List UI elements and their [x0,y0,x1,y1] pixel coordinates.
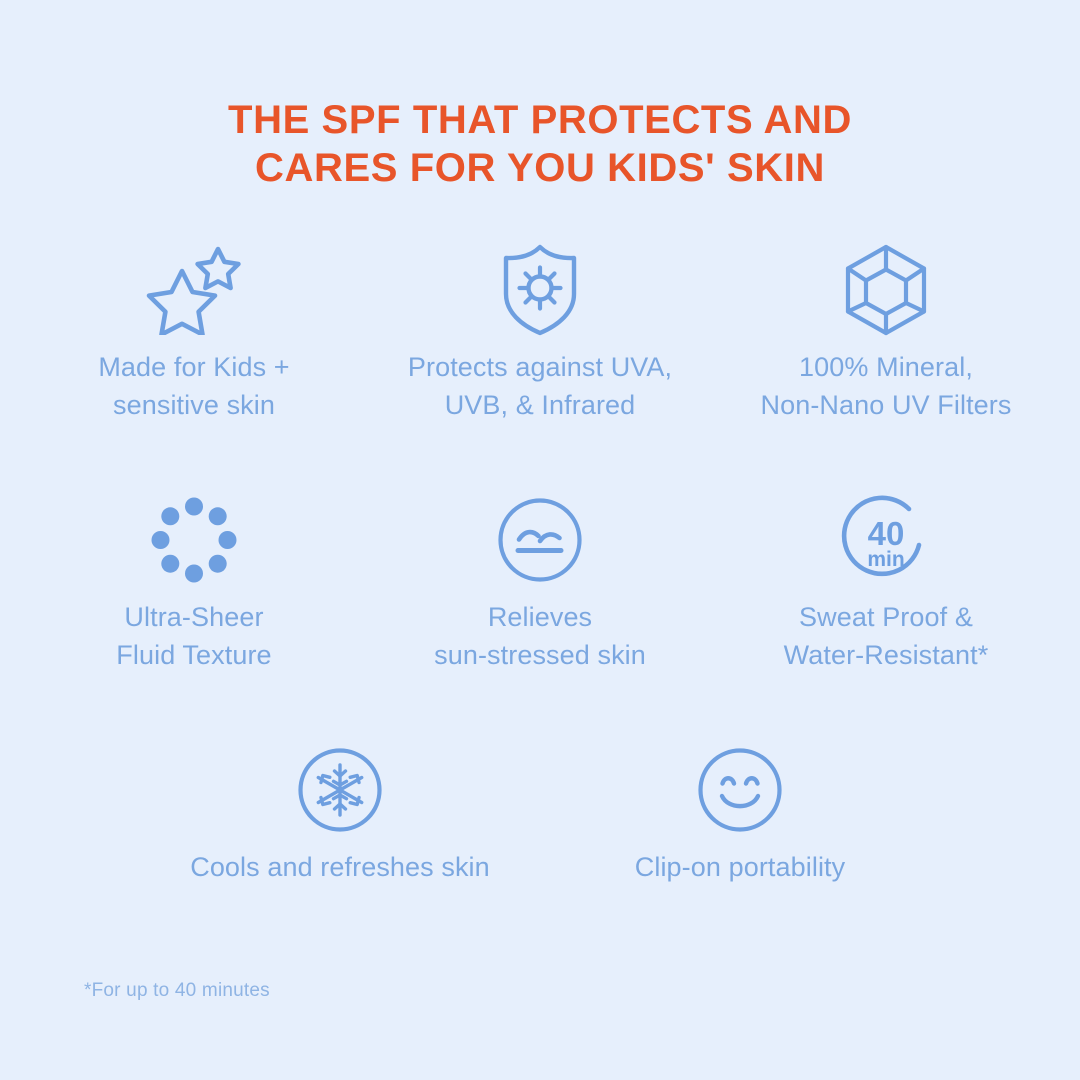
feature-item-mineral-filters: 100% Mineral, Non-Nano UV Filters [713,242,1059,492]
shield-sun-icon [501,242,579,338]
feature-caption: Clip-on portability [635,848,846,886]
caption-line-1: Cools and refreshes skin [190,848,490,886]
forty-minutes-timer-icon: 40 min [841,492,931,588]
feature-caption: Sweat Proof & Water-Resistant* [784,598,989,674]
feature-caption: Made for Kids + sensitive skin [98,348,289,424]
caption-line-2: Non-Nano UV Filters [761,386,1012,424]
smiley-face-icon [697,742,783,838]
caption-line-1: Protects against UVA, [408,348,672,386]
timer-value: 40 [868,515,905,552]
caption-line-1: Ultra-Sheer [116,598,271,636]
footnote: *For up to 40 minutes [84,978,270,1004]
feature-item-sweat-proof: 40 min Sweat Proof & Water-Resistant* [713,492,1059,742]
feature-item-cooling: Cools and refreshes skin [140,742,540,932]
timer-unit: min [867,548,904,571]
product-benefits-infographic: THE SPF THAT PROTECTS AND CARES FOR YOU … [0,0,1080,1080]
caption-line-1: Relieves [434,598,646,636]
feature-item-made-for-kids: Made for Kids + sensitive skin [21,242,367,492]
feature-row-3: Cools and refreshes skin [20,742,1060,932]
caption-line-1: Sweat Proof & [784,598,989,636]
feature-row-1: Made for Kids + sensitive skin [20,242,1060,492]
caption-line-2: sun-stressed skin [434,636,646,674]
feature-caption: Ultra-Sheer Fluid Texture [116,598,271,674]
snowflake-circle-icon [297,742,383,838]
soothing-waves-circle-icon [497,492,583,588]
mineral-gem-icon [840,242,932,338]
page-title-line-2: CARES FOR YOU KIDS' SKIN [0,144,1080,192]
feature-caption: 100% Mineral, Non-Nano UV Filters [761,348,1012,424]
page-title: THE SPF THAT PROTECTS AND CARES FOR YOU … [0,96,1080,192]
feature-caption: Cools and refreshes skin [190,848,490,886]
caption-line-1: Made for Kids + [98,348,289,386]
feature-caption: Protects against UVA, UVB, & Infrared [408,348,672,424]
caption-line-2: sensitive skin [98,386,289,424]
feature-row-2: Ultra-Sheer Fluid Texture [20,492,1060,742]
feature-item-ultra-sheer: Ultra-Sheer Fluid Texture [21,492,367,742]
dotted-circle-icon [151,492,237,588]
caption-line-2: Fluid Texture [116,636,271,674]
page-title-line-1: THE SPF THAT PROTECTS AND [0,96,1080,144]
caption-line-1: Clip-on portability [635,848,846,886]
caption-line-2: UVB, & Infrared [408,386,672,424]
two-stars-icon [144,242,244,338]
caption-line-1: 100% Mineral, [761,348,1012,386]
feature-grid: Made for Kids + sensitive skin [20,242,1060,932]
feature-item-uv-protection: Protects against UVA, UVB, & Infrared [367,242,713,492]
caption-line-2: Water-Resistant* [784,636,989,674]
feature-caption: Relieves sun-stressed skin [434,598,646,674]
feature-item-clip-on: Clip-on portability [540,742,940,932]
feature-item-relieves-skin: Relieves sun-stressed skin [367,492,713,742]
